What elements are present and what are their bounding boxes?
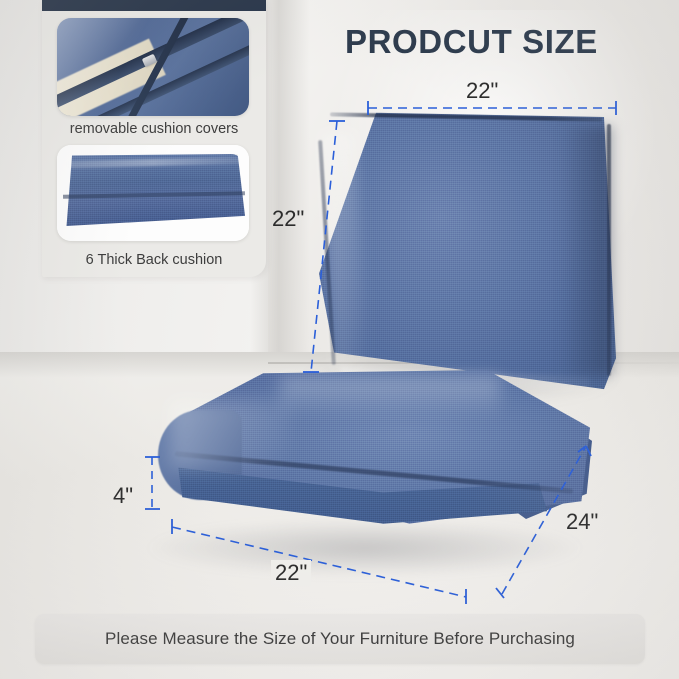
feature-caption-covers: removable cushion covers xyxy=(42,121,266,137)
feature-panel-topbar xyxy=(42,0,266,11)
thick-cushion-photo xyxy=(57,145,249,241)
dimension-seat-depth-label: 24" xyxy=(566,509,598,535)
product-size-infographic: PRODCUT SIZE 22" 22" 4" xyxy=(0,0,679,679)
zipper-photo-sheen xyxy=(57,18,249,116)
measure-notice-text: Please Measure the Size of Your Furnitur… xyxy=(105,629,575,649)
feature-caption-thickness: 6 Thick Back cushion xyxy=(42,252,266,268)
zipper-closeup-photo xyxy=(57,18,249,116)
measure-notice-banner: Please Measure the Size of Your Furnitur… xyxy=(35,614,645,664)
